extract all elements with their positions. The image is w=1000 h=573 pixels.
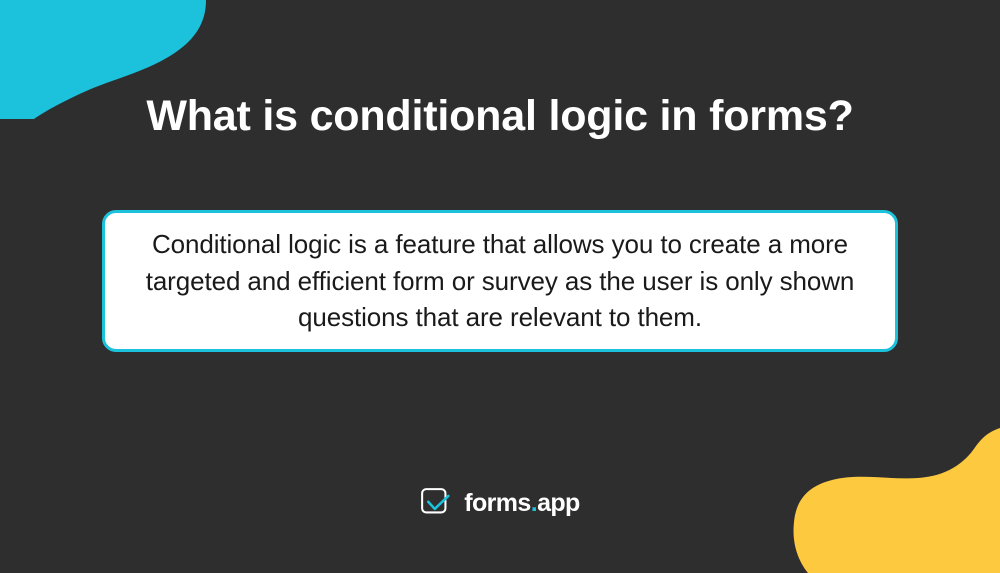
answer-text: Conditional logic is a feature that allo…	[105, 226, 895, 337]
brand-logo: forms.app	[0, 487, 1000, 520]
page-title: What is conditional logic in forms?	[0, 91, 1000, 143]
forms-app-check-square-icon	[420, 487, 453, 520]
logo-name-first: forms	[464, 489, 530, 517]
logo-wordmark: forms.app	[464, 491, 579, 516]
answer-card: Conditional logic is a feature that allo…	[102, 210, 898, 352]
logo-name-second: app	[537, 489, 580, 517]
slide-canvas: What is conditional logic in forms? Cond…	[0, 0, 1000, 573]
